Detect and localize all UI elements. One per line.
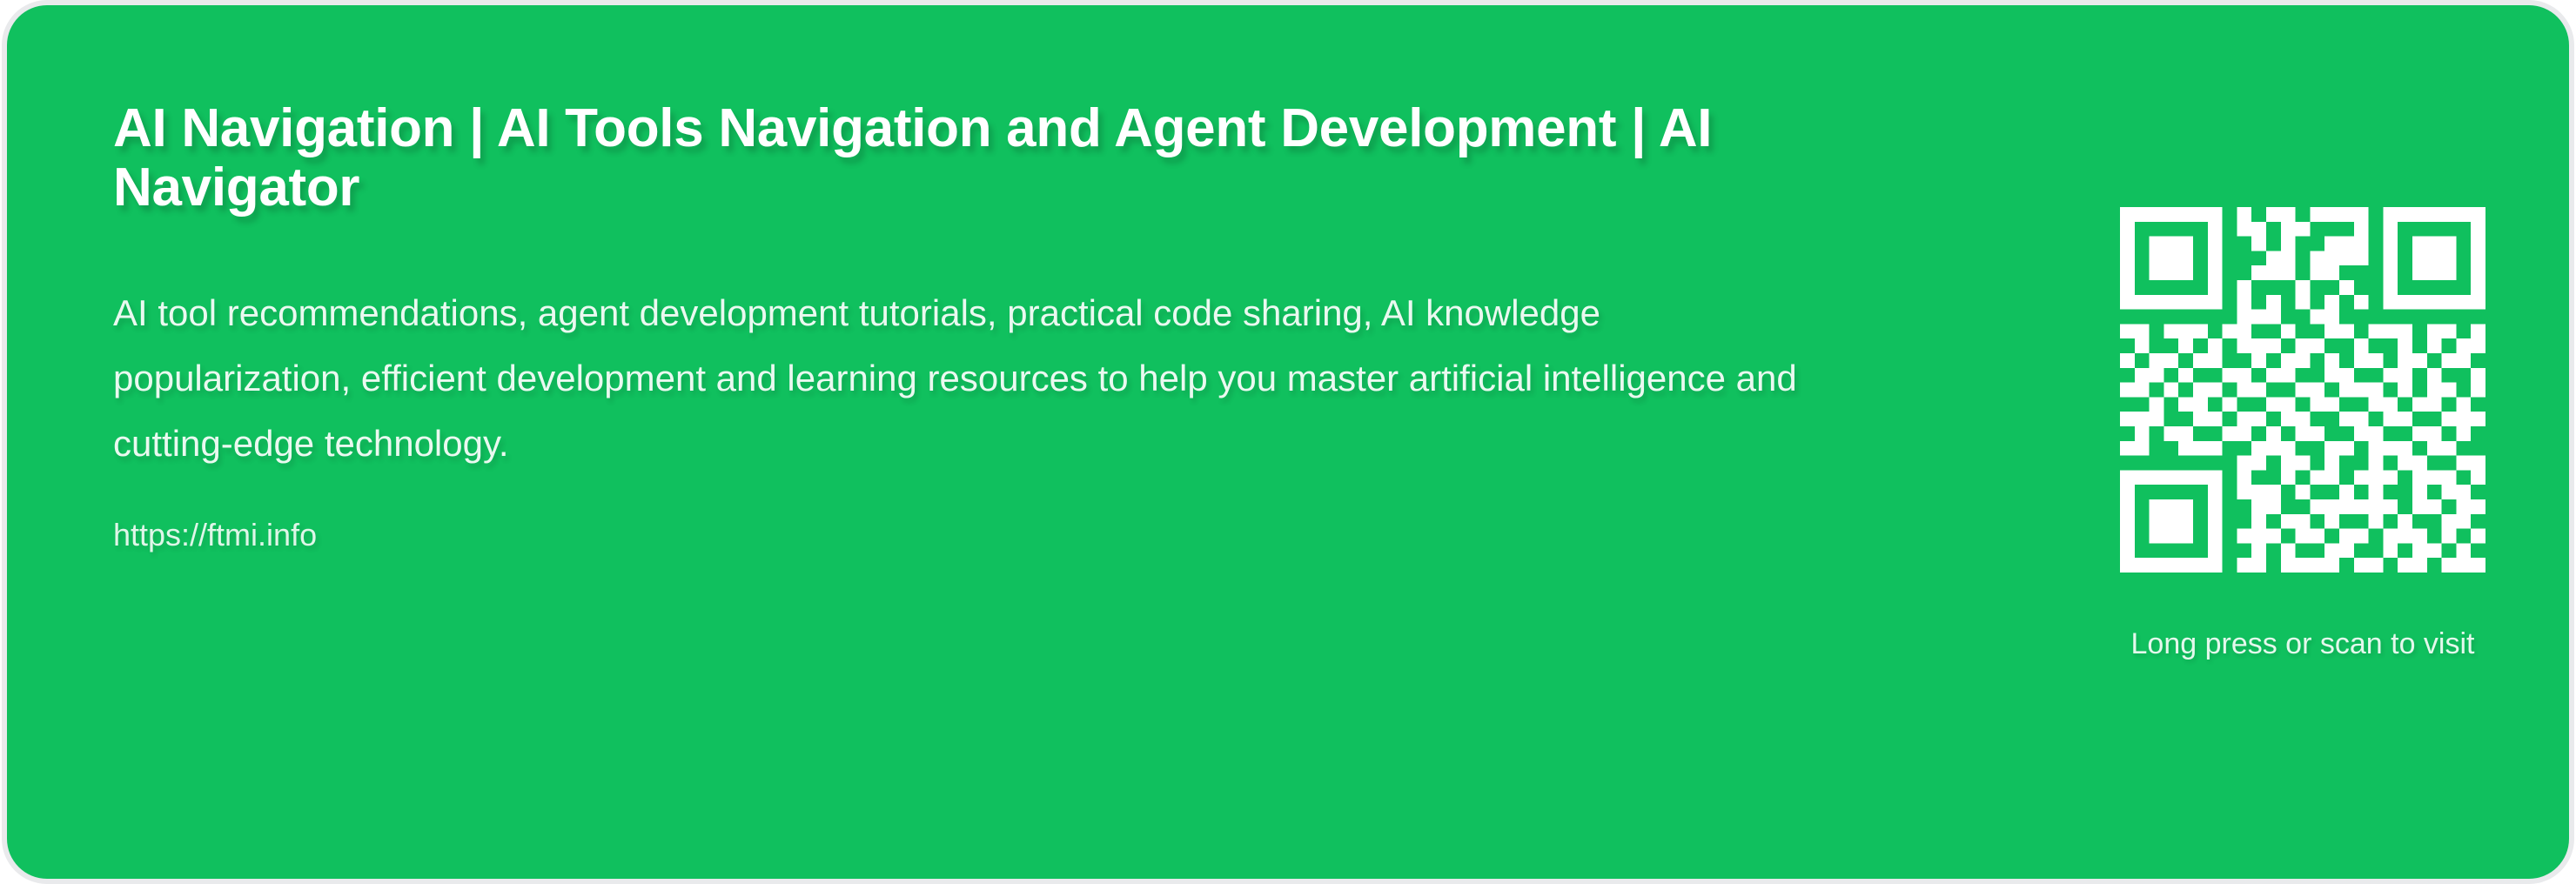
site-url-link[interactable]: https://ftmi.info <box>113 516 2036 553</box>
qr-code-icon[interactable] <box>2120 207 2485 573</box>
page-title: AI Navigation | AI Tools Navigation and … <box>113 99 1767 217</box>
qr-code-frame[interactable] <box>2120 207 2485 573</box>
share-card: AI Navigation | AI Tools Navigation and … <box>7 5 2569 879</box>
card-text-column: AI Navigation | AI Tools Navigation and … <box>7 5 2036 879</box>
card-qr-column: Long press or scan to visit <box>2036 5 2569 879</box>
card-description: AI tool recommendations, agent developme… <box>113 281 1819 476</box>
qr-caption-label: Long press or scan to visit <box>2131 626 2475 662</box>
